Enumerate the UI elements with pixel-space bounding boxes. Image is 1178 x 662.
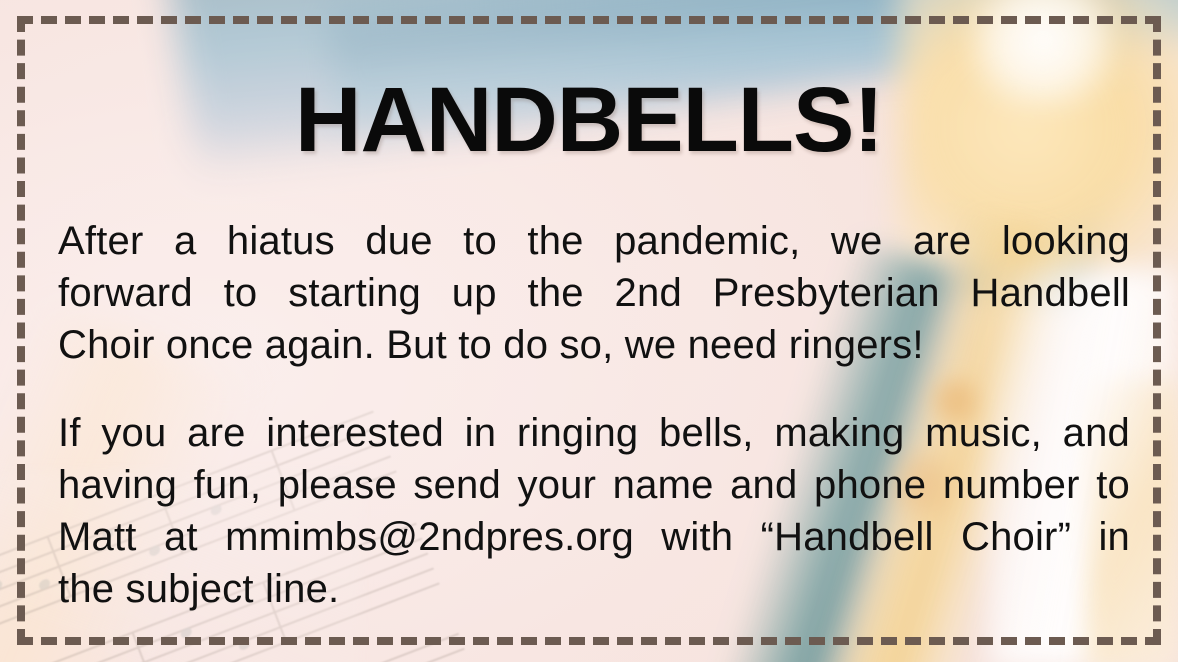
paragraph-2-line-1: If you are interested in ringing bells, …	[58, 407, 1130, 459]
poster-canvas: HANDBELLS! After a hiatus due to the pan…	[0, 0, 1178, 662]
paragraph-2: If you are interested in ringing bells, …	[58, 407, 1130, 615]
page-title: HANDBELLS!	[0, 74, 1178, 166]
poster-content: HANDBELLS! After a hiatus due to the pan…	[0, 0, 1178, 662]
paragraph-1: After a hiatus due to the pandemic, we a…	[58, 215, 1130, 371]
paragraph-2-line-2: having fun, please send your name and ph…	[58, 459, 1130, 511]
paragraph-1-line-1: After a hiatus due to the pandemic, we a…	[58, 215, 1130, 267]
paragraph-1-line-3: Choir once again. But to do so, we need …	[58, 319, 1130, 371]
paragraph-2-line-3-with-email: Matt at mmimbs@2ndpres.org with “Handbel…	[58, 511, 1130, 563]
paragraph-2-line-4: the subject line.	[58, 563, 1130, 615]
paragraph-1-line-2: forward to starting up the 2nd Presbyter…	[58, 267, 1130, 319]
poster-body: After a hiatus due to the pandemic, we a…	[58, 215, 1130, 615]
